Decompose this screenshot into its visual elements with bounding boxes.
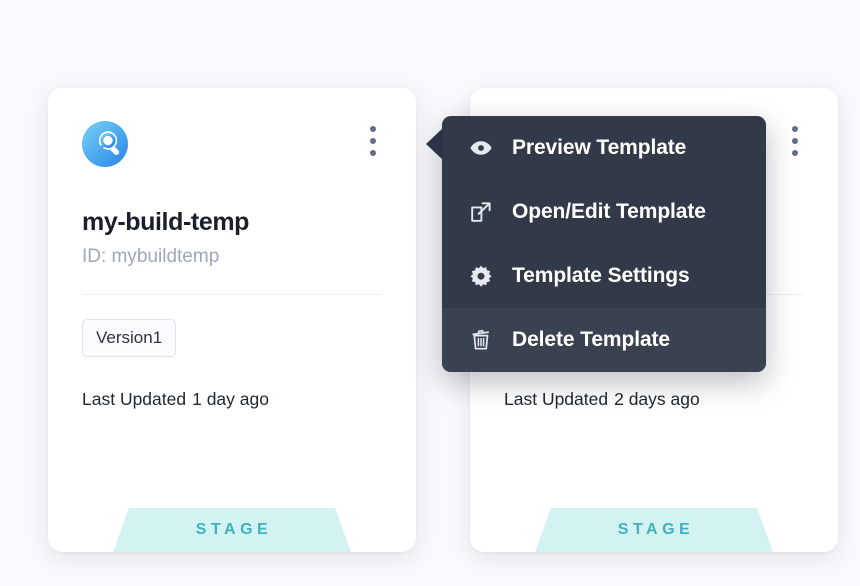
external-link-icon (466, 200, 496, 224)
context-menu: Preview Template Open/Edit Template Temp… (442, 116, 766, 372)
menu-item-delete-template[interactable]: Delete Template (442, 308, 766, 372)
last-updated: Last Updated2 days ago (504, 389, 804, 410)
last-updated-value: 2 days ago (614, 389, 700, 409)
context-menu-caret (426, 128, 443, 160)
last-updated-value: 1 day ago (192, 389, 269, 409)
last-updated-label: Last Updated (82, 389, 186, 409)
card-menu-button[interactable] (360, 124, 386, 158)
kebab-dot (792, 138, 798, 144)
last-updated: Last Updated1 day ago (82, 389, 382, 410)
trash-icon (466, 328, 496, 352)
card-id: ID: mybuildtemp (82, 246, 382, 268)
search-circle-icon (82, 121, 128, 167)
kebab-dot (370, 150, 376, 156)
card-title: my-build-temp (82, 208, 382, 237)
card-header (82, 120, 382, 174)
kebab-dot (370, 138, 376, 144)
menu-item-label: Delete Template (512, 328, 670, 352)
menu-item-open-edit-template[interactable]: Open/Edit Template (442, 180, 766, 244)
version-chip[interactable]: Version1 (82, 319, 176, 357)
card-divider (82, 294, 382, 295)
menu-item-template-settings[interactable]: Template Settings (442, 244, 766, 308)
card-menu-button[interactable] (782, 124, 808, 158)
eye-icon (466, 139, 496, 157)
stage-badge: STAGE (535, 508, 773, 552)
menu-item-preview-template[interactable]: Preview Template (442, 116, 766, 180)
menu-item-label: Template Settings (512, 264, 690, 288)
kebab-dot (792, 150, 798, 156)
kebab-dot (370, 126, 376, 132)
last-updated-label: Last Updated (504, 389, 608, 409)
stage-badge: STAGE (113, 508, 351, 552)
card-content: my-build-temp ID: mybuildtemp Version1 L… (48, 88, 416, 552)
kebab-dot (792, 126, 798, 132)
menu-item-label: Open/Edit Template (512, 200, 706, 224)
menu-item-label: Preview Template (512, 136, 686, 160)
gear-icon (466, 264, 496, 288)
template-card[interactable]: my-build-temp ID: mybuildtemp Version1 L… (48, 88, 416, 552)
